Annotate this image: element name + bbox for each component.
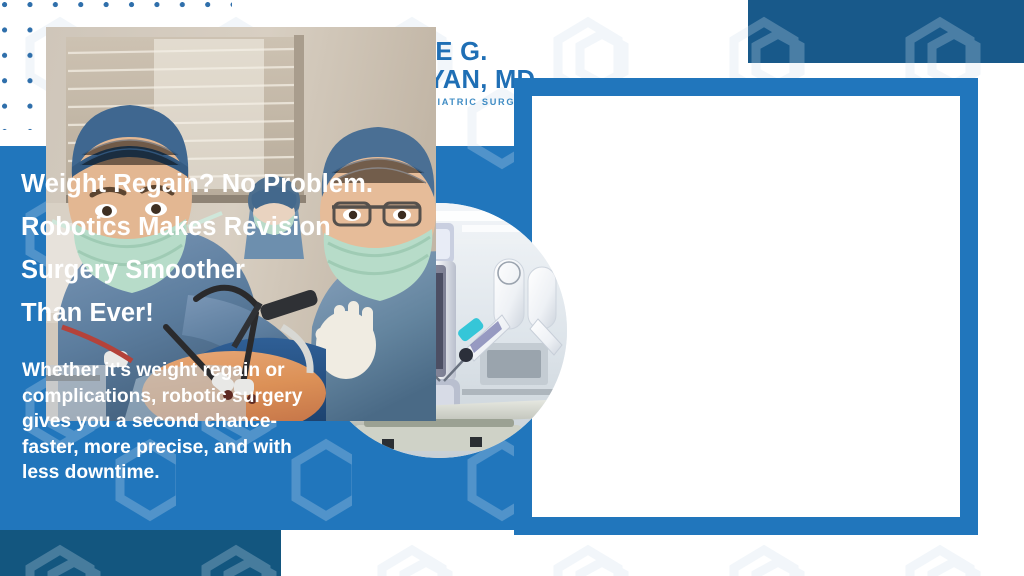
white-top-right-panel [514,0,748,78]
headline-line-2: Robotics Makes Revision [21,206,441,249]
headline-line-4: Than Ever! [21,292,441,335]
headline-line-1: Weight Regain? No Problem. [21,163,441,206]
white-right-edge [978,78,1024,535]
dark-blue-bottom-left-block [0,530,281,576]
photo-frame [514,78,978,535]
white-bottom-right-panel [281,530,1024,576]
headline-line-3: Surgery Smoother [21,249,441,292]
body-paragraph: Whether it's weight regain or complicati… [22,358,327,486]
photo-frame-inner [532,96,960,517]
marketing-banner: GEORGE G. MUTAFYAN, MD GENERAL & BARIATR… [0,0,1024,576]
dark-blue-top-right-block [748,0,1024,63]
page-title: Weight Regain? No Problem. Robotics Make… [21,163,441,335]
